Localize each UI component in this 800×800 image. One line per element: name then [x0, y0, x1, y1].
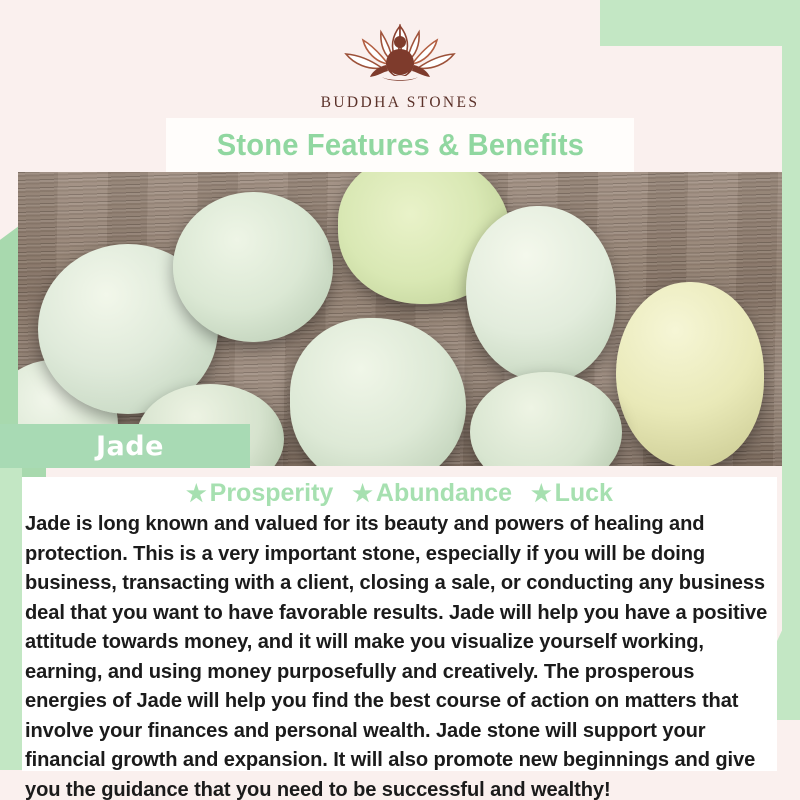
title-panel: Stone Features & Benefits [166, 118, 634, 172]
keyword-item-1: ★Abundance [352, 479, 512, 508]
star-icon: ★ [186, 480, 207, 507]
description-panel: ★Prosperity ★Abundance ★Luck Jade is lon… [22, 477, 777, 771]
infographic-card: BUDDHA STONES Stone Features & Benefits … [0, 0, 800, 800]
star-icon: ★ [531, 480, 552, 507]
stone-item [616, 282, 764, 466]
brand-logo: BUDDHA STONES [0, 18, 800, 112]
keyword-item-0: ★Prosperity [186, 479, 333, 508]
keyword-label: Abundance [376, 479, 512, 507]
stone-name: Jade [96, 431, 164, 462]
keyword-label: Prosperity [210, 479, 334, 507]
description-text: Jade is long known and valued for its be… [25, 510, 774, 800]
stone-name-band: Jade [0, 424, 250, 468]
stone-item [173, 192, 333, 342]
keyword-label: Luck [555, 479, 613, 507]
keyword-item-2: ★Luck [531, 479, 613, 508]
lotus-meditation-icon [334, 18, 466, 88]
green-accent-left-lower [0, 466, 22, 770]
stone-photo [18, 172, 782, 466]
brand-name: BUDDHA STONES [321, 94, 480, 112]
star-icon: ★ [352, 480, 373, 507]
keyword-list: ★Prosperity ★Abundance ★Luck [22, 479, 777, 508]
page-title: Stone Features & Benefits [216, 127, 583, 163]
